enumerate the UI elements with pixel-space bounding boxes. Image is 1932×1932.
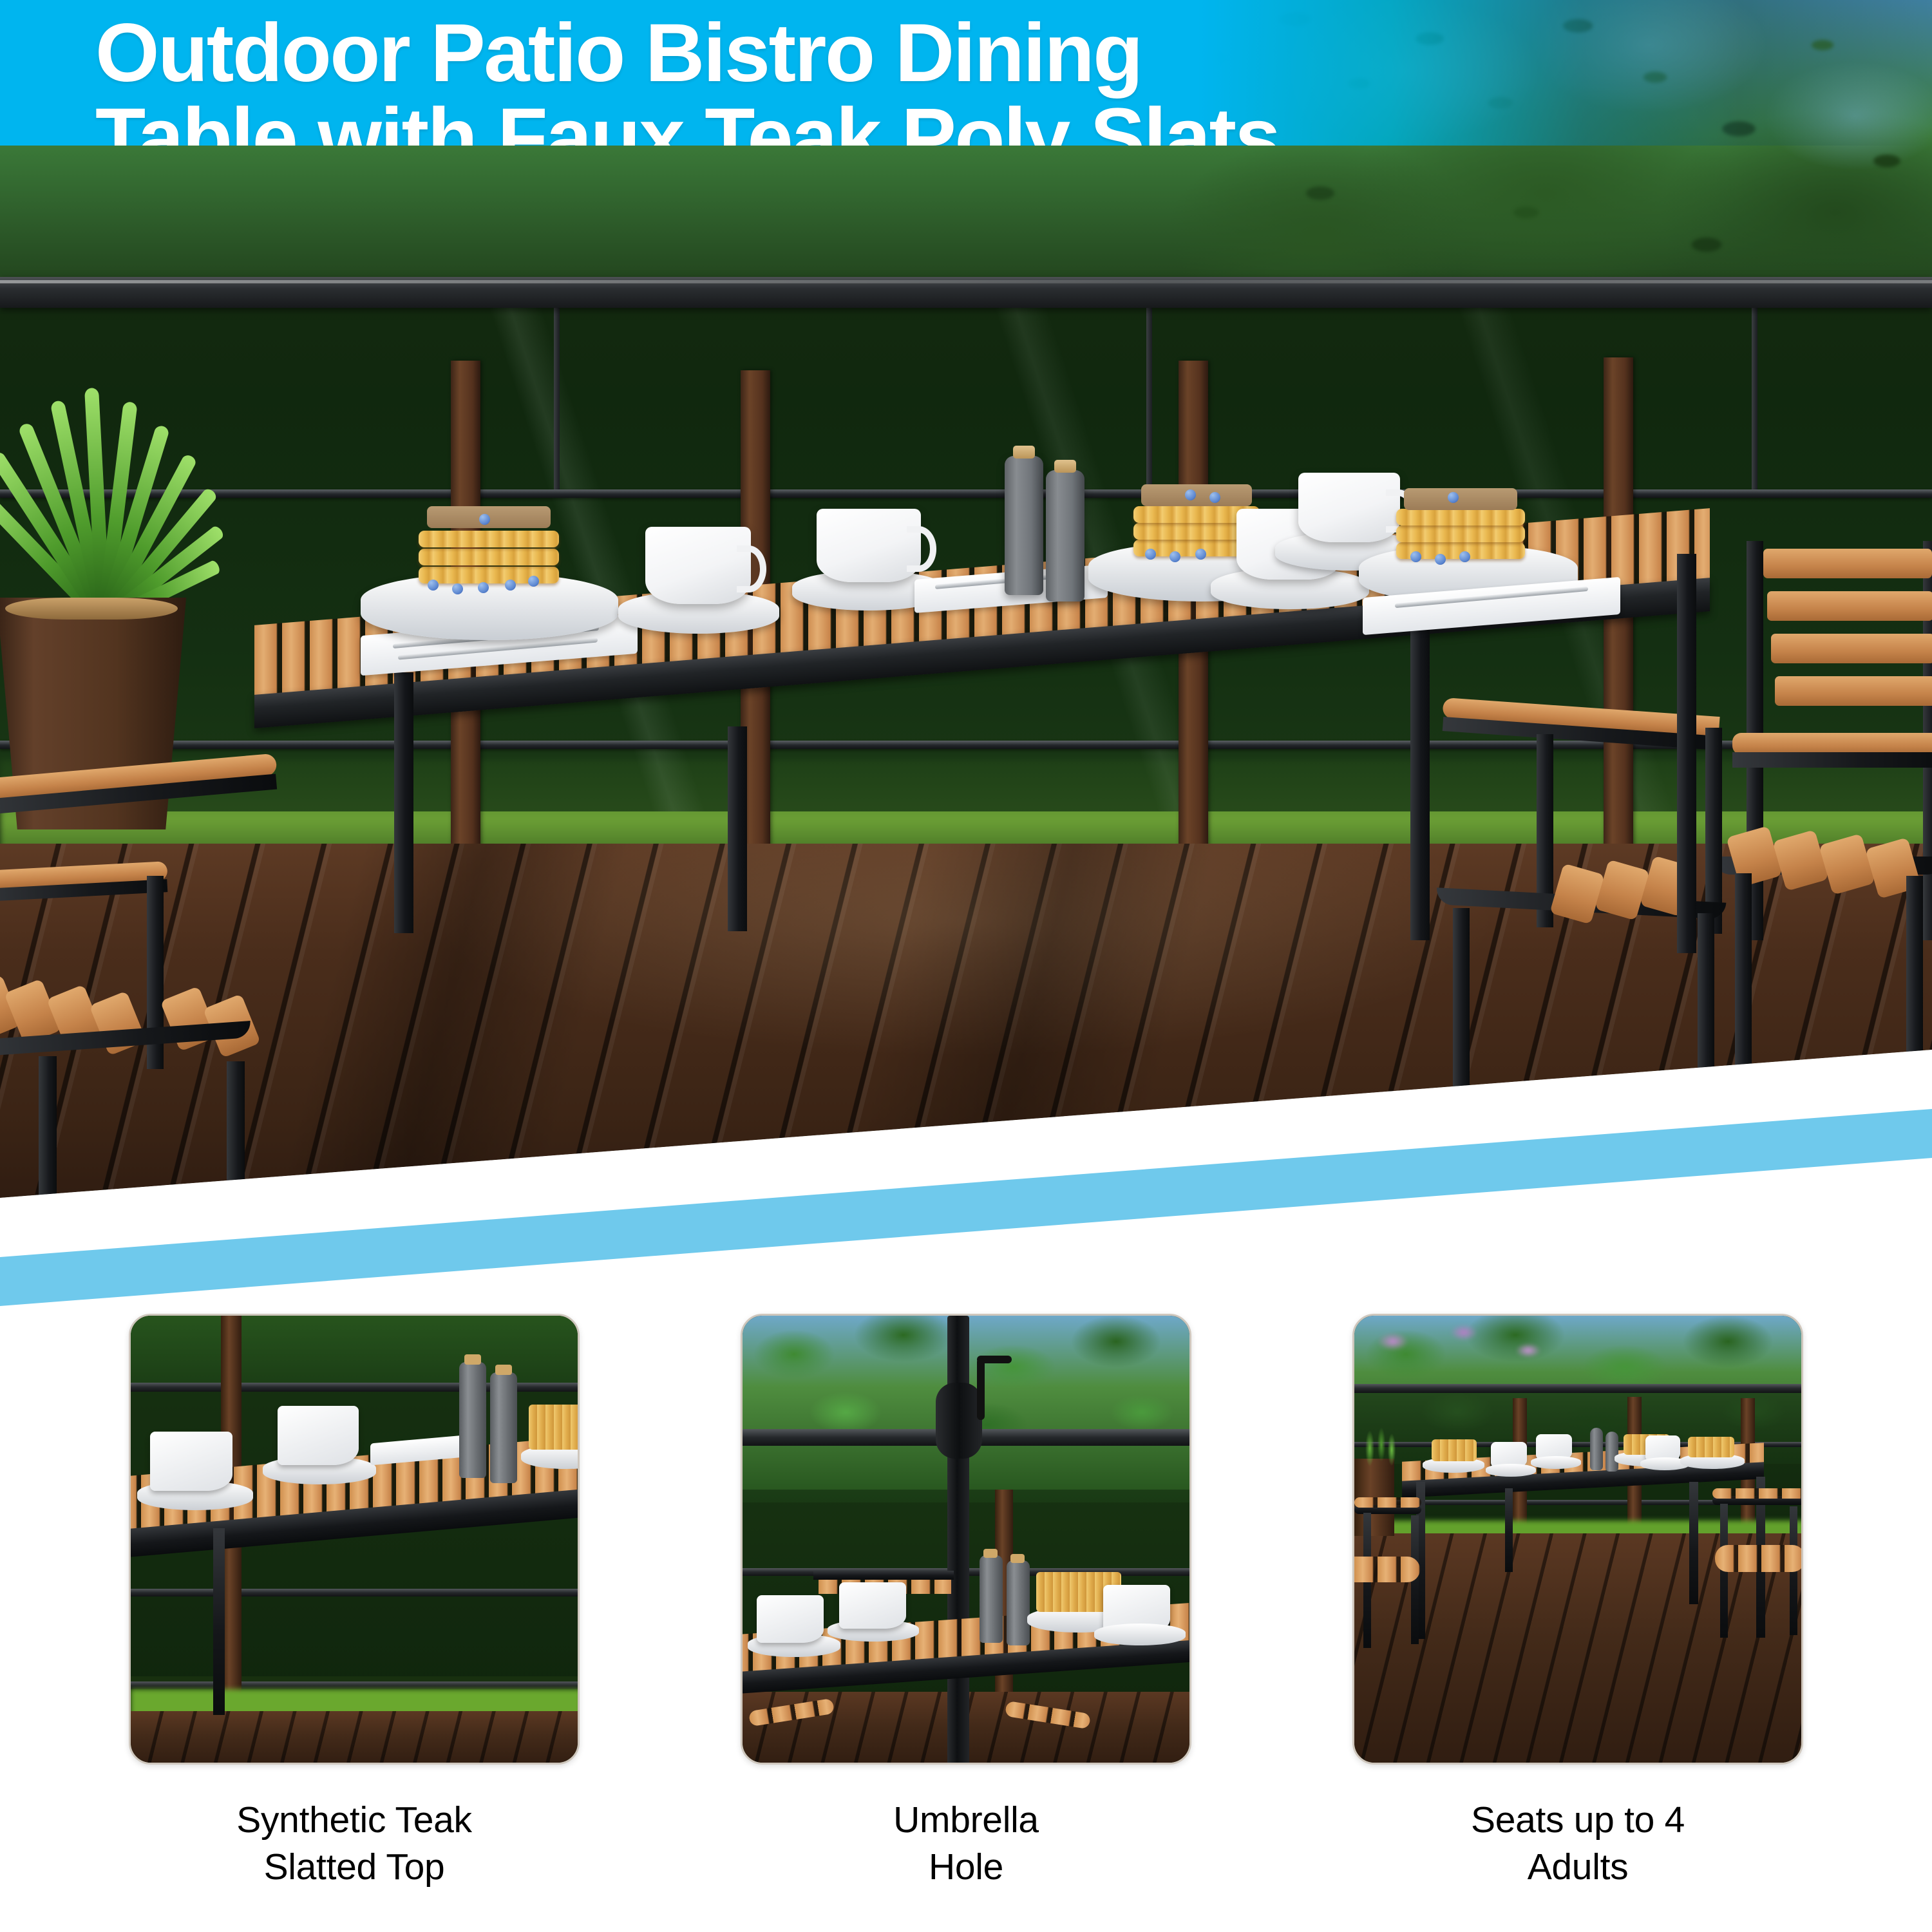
thumb1-deck [131,1711,580,1765]
thumb1-pepper-grinder [459,1362,486,1478]
thumb3-salt-grinder [1605,1432,1618,1472]
thumb3-pepper-grinder [1590,1428,1603,1470]
thumb3-waffle-stack [1432,1439,1477,1461]
syrup-drizzle [1404,488,1517,510]
blueberry [452,583,463,594]
thumb1-salt-grinder [490,1372,517,1483]
blueberry [428,580,439,591]
blueberry [1195,549,1206,560]
thumb1-rail [131,1589,580,1596]
caption-line-1: Synthetic Teak [236,1799,471,1841]
page-title-line-2: Table with Faux Teak Poly Slats [95,96,1886,146]
feature-thumbnail-row [0,1314,1932,1765]
thumb1-rail [131,1681,580,1689]
thumb1-coffee-cup [278,1406,359,1465]
thumb3-chair-left-arm [1354,1497,1421,1508]
coffee-cup [1298,473,1400,542]
caption-line-1: Seats up to 4 [1471,1799,1685,1841]
thumb3-blossoms [1367,1322,1599,1393]
blueberry [1170,551,1180,562]
railing-cable [0,489,1932,498]
blueberry [1435,554,1446,565]
thumb2-coffee-cup [839,1582,906,1629]
thumb3-chair-left-seat [1354,1557,1420,1582]
thumb1-waffle-stack [529,1405,580,1450]
blueberry [1145,549,1156,560]
thumb3-table-leg [1689,1482,1698,1604]
baluster [1146,308,1152,495]
page-title-line-1: Outdoor Patio Bistro Dining [95,7,1142,99]
blueberry [479,514,490,525]
blueberry [505,580,516,591]
thumb1-coffee-cup [150,1432,232,1491]
blueberry [1410,551,1421,562]
feature-card-seats-up-to-4-adults[interactable] [1352,1314,1803,1765]
potted-plant-leaves [0,351,283,621]
caption-umbrella-hole: Umbrella Hole [741,1797,1191,1891]
feature-card-umbrella-hole[interactable] [741,1314,1191,1765]
thumb2-coffee-cup [757,1595,824,1643]
thumb1-table-leg [213,1528,225,1715]
railing-top-rail [0,277,1932,308]
thumb3-saucer [1531,1456,1581,1469]
caption-line-2: Hole [929,1846,1003,1888]
thumb3-rail [1354,1384,1803,1393]
waffle-stack [419,515,559,586]
table-leg [394,672,413,933]
caption-seats-up-to-4-adults: Seats up to 4 Adults [1352,1797,1803,1891]
header-banner: Outdoor Patio Bistro Dining Table with F… [0,0,1932,146]
thumb1-cork-top [464,1354,481,1365]
thumb3-chair-right-arm [1712,1488,1803,1499]
thumb2-pepper-grinder [980,1555,1003,1643]
thumb2-umbrella-crank-housing [936,1383,982,1459]
blueberry [1459,551,1470,562]
table-leg [728,726,747,931]
thumb2-chair-back [813,1571,954,1580]
caption-line-1: Umbrella [893,1799,1039,1841]
cork-top [1013,446,1035,459]
caption-synthetic-teak-slatted-top: Synthetic Teak Slatted Top [129,1797,580,1891]
blueberry [1185,489,1196,500]
thumb3-saucer [1486,1464,1536,1477]
feature-captions: Synthetic Teak Slatted Top Umbrella Hole… [0,1797,1932,1932]
thumb3-plant [1357,1416,1402,1468]
cork-top [1054,460,1076,473]
thumb2-umbrella-crank-arm [977,1358,985,1420]
thumb3-waffle-stack [1688,1437,1734,1457]
caption-line-2: Slatted Top [264,1846,445,1888]
coffee-cup [645,527,751,604]
feature-card-synthetic-teak-slatted-top[interactable] [129,1314,580,1765]
blueberry [528,576,539,587]
baluster [554,308,560,495]
thumb1-cork-top [495,1365,512,1375]
thumb3-table-leg [1505,1488,1513,1572]
page-title: Outdoor Patio Bistro Dining Table with F… [95,12,1886,146]
coffee-cup [817,509,921,582]
baluster [1752,308,1757,495]
blueberry [1448,492,1459,503]
thumb2-cork-top [983,1549,998,1558]
pepper-grinder [1005,456,1043,595]
thumb2-salt-grinder [1007,1560,1030,1645]
salt-grinder [1046,470,1084,601]
hero-product-photo [0,0,1932,1224]
table-leg [1410,618,1430,940]
thumb3-chair-right-seat [1715,1545,1803,1572]
blueberry [1209,492,1220,503]
product-marketing-page: Synthetic Teak Slatted Top Umbrella Hole… [0,0,1932,1932]
caption-line-2: Adults [1528,1846,1629,1888]
syrup-drizzle [1141,484,1252,506]
thumb2-saucer [1094,1624,1186,1645]
planter-soil [5,598,178,620]
thumb2-cork-top [1010,1554,1025,1563]
blueberry [478,582,489,593]
table-leg [1677,554,1696,953]
